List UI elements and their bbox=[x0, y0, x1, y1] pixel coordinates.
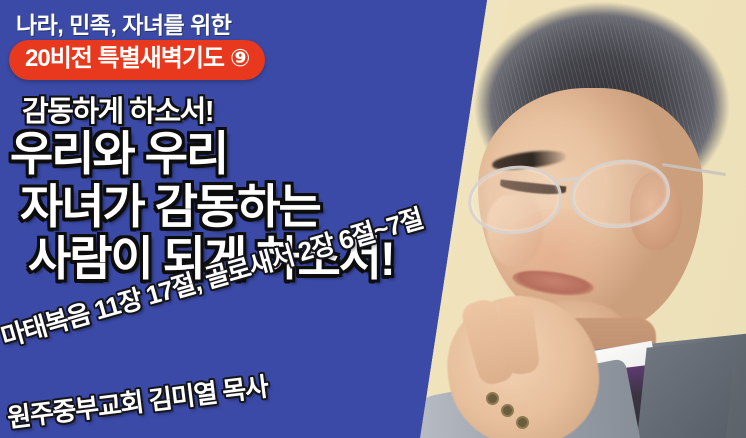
headline-line-1: 우리와 우리 bbox=[10, 128, 476, 181]
thumbnail-canvas: 나라, 민족, 자녀를 위한 20비전 특별새벽기도 ⑨ 감동하게 하소서! 우… bbox=[0, 0, 746, 438]
speaker-name: 원주중부교회 김미열 목사 bbox=[5, 397, 48, 438]
scripture-reference: 마태복음 11장 17절, 골로새서 2장 6절~7절 bbox=[0, 312, 55, 403]
footer-block: 마태복음 11장 17절, 골로새서 2장 6절~7절 원주중부교회 김미열 목… bbox=[8, 315, 608, 438]
series-badge: 20비전 특별새벽기도 ⑨ bbox=[9, 40, 265, 80]
series-badge-label: 20비전 특별새벽기도 bbox=[25, 47, 224, 71]
text-overlay: 나라, 민족, 자녀를 위한 20비전 특별새벽기도 ⑨ 감동하게 하소서! 우… bbox=[0, 0, 746, 438]
subhead-text: 감동하게 하소서! bbox=[22, 88, 213, 130]
kicker-text: 나라, 민족, 자녀를 위한 bbox=[16, 6, 231, 40]
series-number-icon: ⑨ bbox=[230, 47, 249, 71]
